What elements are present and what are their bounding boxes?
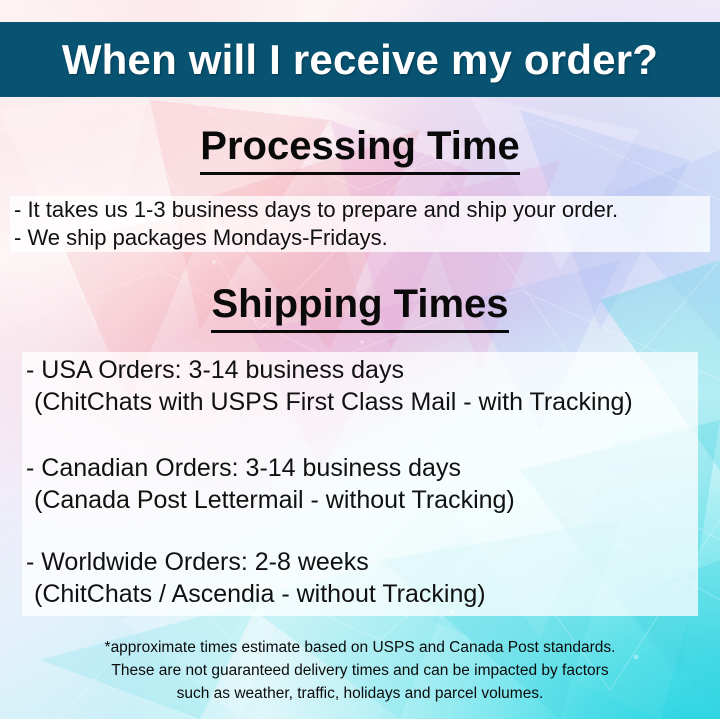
section-heading-processing-time-label: Processing Time	[200, 124, 519, 175]
shipping-block-usa: - USA Orders: 3-14 business days (ChitCh…	[26, 354, 698, 419]
footer-disclaimer-line: *approximate times estimate based on USP…	[0, 636, 720, 659]
shipping-block-worldwide-carrier: (ChitChats / Ascendia - without Tracking…	[26, 578, 698, 611]
processing-time-line: - It takes us 1-3 business days to prepa…	[14, 196, 714, 224]
shipping-block-canada-main: - Canadian Orders: 3-14 business days	[26, 452, 698, 484]
page-title: When will I receive my order?	[62, 39, 658, 81]
footer-disclaimer-line: These are not guaranteed delivery times …	[0, 659, 720, 682]
shipping-block-usa-carrier: (ChitChats with USPS First Class Mail - …	[26, 386, 698, 419]
section-heading-shipping-times: Shipping Times	[0, 284, 720, 324]
shipping-block-canada: - Canadian Orders: 3-14 business days (C…	[26, 452, 698, 517]
shipping-block-worldwide: - Worldwide Orders: 2-8 weeks (ChitChats…	[26, 546, 698, 611]
shipping-block-usa-main: - USA Orders: 3-14 business days	[26, 354, 698, 386]
processing-time-text-block: - It takes us 1-3 business days to prepa…	[14, 196, 714, 252]
section-heading-shipping-times-label: Shipping Times	[211, 282, 508, 333]
footer-disclaimer-line: such as weather, traffic, holidays and p…	[0, 682, 720, 705]
footer-disclaimer: *approximate times estimate based on USP…	[0, 636, 720, 705]
shipping-info-poster: When will I receive my order? Processing…	[0, 0, 720, 719]
shipping-block-canada-carrier: (Canada Post Lettermail - without Tracki…	[26, 484, 698, 517]
processing-time-line: - We ship packages Mondays-Fridays.	[14, 224, 714, 252]
header-banner: When will I receive my order?	[0, 22, 720, 97]
shipping-block-worldwide-main: - Worldwide Orders: 2-8 weeks	[26, 546, 698, 578]
section-heading-processing-time: Processing Time	[0, 126, 720, 166]
